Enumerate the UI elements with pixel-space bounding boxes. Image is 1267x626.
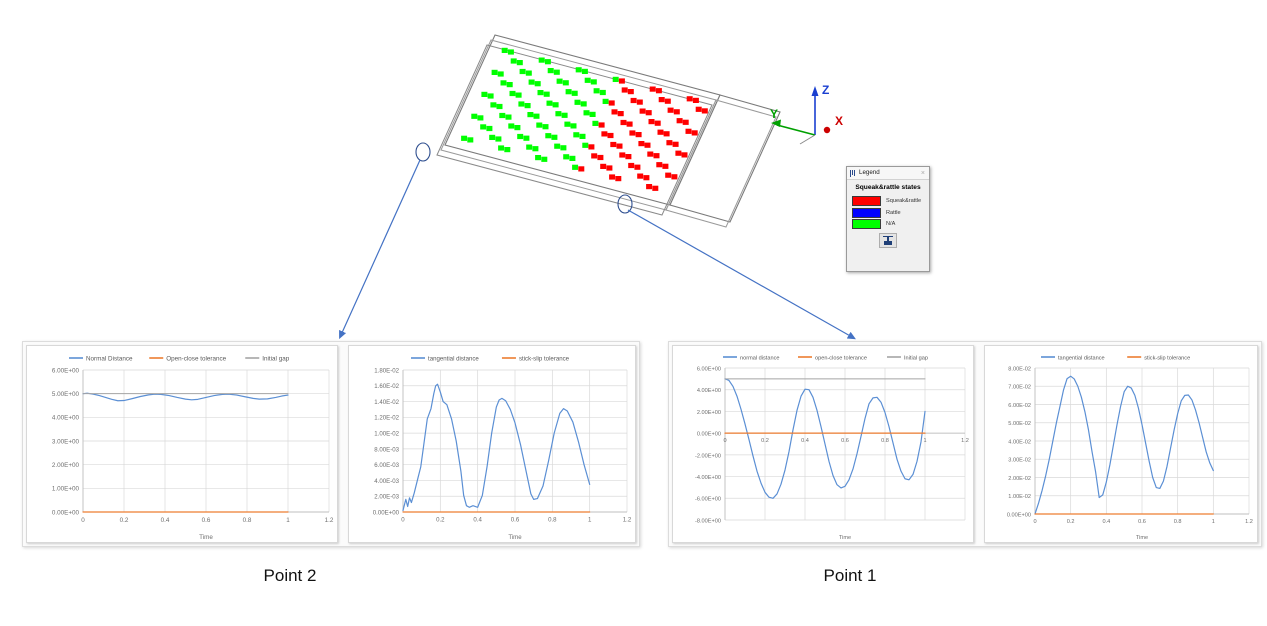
axis-label-z: Z xyxy=(822,83,829,97)
legend-item-squeak-rattle: Squeak&rattle xyxy=(852,196,924,206)
y-tick-label: -2.00E+00 xyxy=(695,453,721,459)
x-tick-label: 0.6 xyxy=(202,517,211,524)
y-tick-label: 1.20E-02 xyxy=(374,415,399,422)
legend-item-na: N/A xyxy=(852,219,924,229)
legend-icon xyxy=(850,170,856,177)
x-tick-label: 0.4 xyxy=(161,517,170,524)
legend-entry: stick-slip tolerance xyxy=(519,356,570,363)
chart-svg-point1-normal-distance: -8.00E+00-6.00E+00-4.00E+00-2.00E+000.00… xyxy=(673,346,973,542)
legend-entry: stick-slip tolerance xyxy=(1144,356,1190,362)
legend-heading: Squeak&rattle states xyxy=(852,184,924,192)
chart-point2-normal-distance[interactable]: 0.00E+001.00E+002.00E+003.00E+004.00E+00… xyxy=(26,345,338,543)
x-tick-label: 0.8 xyxy=(1174,519,1182,525)
dock-icon xyxy=(883,236,893,245)
caption-point2: Point 2 xyxy=(190,566,390,586)
y-tick-label: 1.40E-02 xyxy=(374,399,399,406)
chart-svg-point1-tangential-distance: 0.00E+001.00E-022.00E-023.00E-024.00E-02… xyxy=(985,346,1257,542)
y-tick-label: 1.00E+00 xyxy=(52,486,80,493)
dock-button[interactable] xyxy=(879,233,897,248)
y-tick-label: 2.00E+00 xyxy=(52,462,80,469)
axis-triad: Z Y X xyxy=(770,83,843,144)
y-tick-label: 5.00E+00 xyxy=(52,391,80,398)
y-tick-label: 2.00E+00 xyxy=(697,410,721,416)
y-tick-label: 0.00E+00 xyxy=(1007,512,1031,518)
y-tick-label: 1.00E-02 xyxy=(374,431,399,438)
legend-label-squeak-rattle: Squeak&rattle xyxy=(886,198,921,204)
x-tick-label: 0.4 xyxy=(1102,519,1110,525)
model-svg: Z Y X xyxy=(330,20,900,290)
y-tick-label: 5.00E-02 xyxy=(1008,421,1031,427)
y-tick-label: 1.60E-02 xyxy=(374,383,399,390)
y-tick-label: 0.00E+00 xyxy=(373,509,400,516)
legend-window[interactable]: Legend × Squeak&rattle states Squeak&rat… xyxy=(846,166,930,272)
x-tick-label: 0.2 xyxy=(120,517,129,524)
legend-label-rattle: Rattle xyxy=(886,210,901,216)
legend-body: Squeak&rattle states Squeak&rattle Rattl… xyxy=(847,180,929,253)
legend-entry: Initial gap xyxy=(262,356,289,363)
x-tick-label: 1 xyxy=(588,517,592,524)
y-tick-label: 7.00E-02 xyxy=(1008,385,1031,391)
legend-swatch-na xyxy=(852,219,881,229)
y-tick-label: 1.00E-02 xyxy=(1008,494,1031,500)
x-tick-label: 1.2 xyxy=(961,438,969,444)
x-tick-label: 0.2 xyxy=(1067,519,1075,525)
chart-svg-point2-normal-distance: 0.00E+001.00E+002.00E+003.00E+004.00E+00… xyxy=(27,346,337,542)
point2-marker[interactable] xyxy=(416,143,430,161)
y-tick-label: 8.00E-02 xyxy=(1008,366,1031,372)
x-tick-label: 1.2 xyxy=(325,517,334,524)
axis-label-x: X xyxy=(835,114,843,128)
legend-entry: tangential distance xyxy=(428,356,479,363)
y-tick-label: 2.00E-03 xyxy=(374,494,399,501)
x-tick-label: 1.2 xyxy=(1245,519,1253,525)
y-tick-label: 4.00E+00 xyxy=(52,415,80,422)
x-axis-title: Time xyxy=(199,534,213,541)
x-tick-label: 0.2 xyxy=(761,438,769,444)
y-tick-label: 1.80E-02 xyxy=(374,367,399,374)
chart-svg-point2-tangential-distance: 0.00E+002.00E-034.00E-036.00E-038.00E-03… xyxy=(349,346,635,542)
x-tick-label: 0.2 xyxy=(436,517,445,524)
legend-window-title: Legend xyxy=(859,170,918,177)
x-axis-title: Time xyxy=(839,535,851,541)
model-viewport[interactable]: Z Y X xyxy=(330,20,900,290)
x-tick-label: 0.8 xyxy=(881,438,889,444)
x-tick-label: 0 xyxy=(81,517,85,524)
y-tick-label: -6.00E+00 xyxy=(695,497,721,503)
x-tick-label: 1 xyxy=(1212,519,1215,525)
legend-entry: normal distance xyxy=(740,356,780,362)
chart-point2-tangential-distance[interactable]: 0.00E+002.00E-034.00E-036.00E-038.00E-03… xyxy=(348,345,636,543)
y-tick-label: 4.00E-02 xyxy=(1008,439,1031,445)
y-tick-label: 0.00E+00 xyxy=(52,509,80,516)
axis-label-y: Y xyxy=(770,107,778,121)
y-tick-label: 8.00E-03 xyxy=(374,446,399,453)
x-tick-label: 1 xyxy=(923,438,926,444)
legend-item-rattle: Rattle xyxy=(852,208,924,218)
x-axis-title: Time xyxy=(1136,535,1148,541)
legend-swatch-rattle xyxy=(852,208,881,218)
y-tick-label: 6.00E-03 xyxy=(374,462,399,469)
x-tick-label: 0 xyxy=(1033,519,1036,525)
legend-label-na: N/A xyxy=(886,221,895,227)
chart-point1-normal-distance[interactable]: -8.00E+00-6.00E+00-4.00E+00-2.00E+000.00… xyxy=(672,345,974,543)
legend-titlebar[interactable]: Legend × xyxy=(847,167,929,180)
x-tick-label: 0.8 xyxy=(243,517,252,524)
x-tick-label: 1 xyxy=(286,517,290,524)
y-tick-label: -8.00E+00 xyxy=(695,518,721,524)
screenshot-root: Z Y X Legend × Squeak&rattle states Sque… xyxy=(0,0,1267,626)
x-tick-label: 0.6 xyxy=(1138,519,1146,525)
x-tick-label: 1.2 xyxy=(623,517,632,524)
legend-entry: tangential distance xyxy=(1058,356,1105,362)
y-tick-label: 0.00E+00 xyxy=(697,432,721,438)
y-tick-label: 6.00E+00 xyxy=(52,367,80,374)
y-tick-label: 2.00E-02 xyxy=(1008,476,1031,482)
legend-swatch-squeak-rattle xyxy=(852,196,881,206)
x-tick-label: 0.6 xyxy=(841,438,849,444)
legend-entry: Open-close tolerance xyxy=(166,356,226,363)
y-tick-label: 4.00E+00 xyxy=(697,388,721,394)
caption-point1: Point 1 xyxy=(750,566,950,586)
y-tick-label: -4.00E+00 xyxy=(695,475,721,481)
y-tick-label: 6.00E+00 xyxy=(697,366,721,372)
x-tick-label: 0.8 xyxy=(548,517,557,524)
y-tick-label: 4.00E-03 xyxy=(374,478,399,485)
close-icon[interactable]: × xyxy=(921,170,926,177)
legend-entry: Normal Distance xyxy=(86,356,133,363)
chart-point1-tangential-distance[interactable]: 0.00E+001.00E-022.00E-023.00E-024.00E-02… xyxy=(984,345,1258,543)
x-tick-label: 0 xyxy=(723,438,726,444)
y-tick-label: 3.00E-02 xyxy=(1008,458,1031,464)
legend-entry: Initial gap xyxy=(904,356,928,362)
y-tick-label: 6.00E-02 xyxy=(1008,403,1031,409)
x-tick-label: 0.4 xyxy=(473,517,482,524)
y-tick-label: 3.00E+00 xyxy=(52,438,80,445)
x-axis-title: Time xyxy=(508,534,522,541)
x-tick-label: 0.4 xyxy=(801,438,809,444)
legend-entry: open-close tolerance xyxy=(815,356,867,362)
x-tick-label: 0.6 xyxy=(511,517,520,524)
legend-footer xyxy=(852,231,924,251)
x-tick-label: 0 xyxy=(401,517,405,524)
